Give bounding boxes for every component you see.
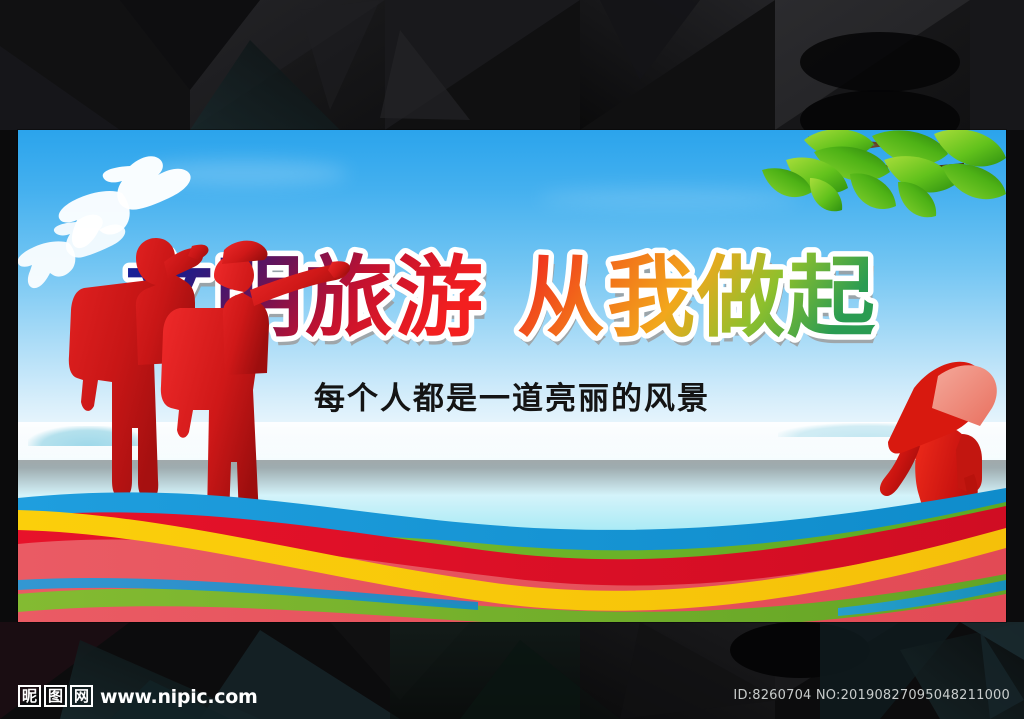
logo-char-3: 网	[70, 685, 93, 707]
poster-artwork: 文明旅游 从我做起 文明旅游 从我做起 文明旅游 从我做起 每个人都是一道亮丽的…	[18, 130, 1006, 622]
svg-text:从我做起: 从我做起	[517, 246, 877, 349]
logo-chinese-characters: 昵 图 网	[18, 685, 93, 707]
distant-island-right	[778, 423, 958, 437]
watermark-footer: 昵 图 网 www.nipic.com ID:8260704 NO:201908…	[0, 661, 1024, 719]
svg-text:文明旅游: 文明旅游	[125, 246, 485, 349]
site-logo[interactable]: 昵 图 网 www.nipic.com	[18, 685, 258, 707]
ribbon-waves	[18, 462, 1006, 622]
logo-char-2: 图	[44, 685, 67, 707]
distant-island-left	[28, 426, 148, 446]
logo-url: www.nipic.com	[100, 688, 258, 707]
asset-id-label: ID:8260704 NO:20190827095048211000	[733, 688, 1010, 703]
cloud-wisp	[538, 188, 798, 208]
cloud-wisp	[138, 160, 348, 186]
headline-text: 文明旅游 从我做起 文明旅游 从我做起 文明旅游 从我做起	[117, 240, 907, 360]
logo-char-1: 昵	[18, 685, 41, 707]
poster-subtitle: 每个人都是一道亮丽的风景	[18, 373, 1006, 418]
headline: 文明旅游 从我做起 文明旅游 从我做起 文明旅游 从我做起	[18, 240, 1006, 365]
screenshot-root: 文明旅游 从我做起 文明旅游 从我做起 文明旅游 从我做起 每个人都是一道亮丽的…	[0, 0, 1024, 719]
